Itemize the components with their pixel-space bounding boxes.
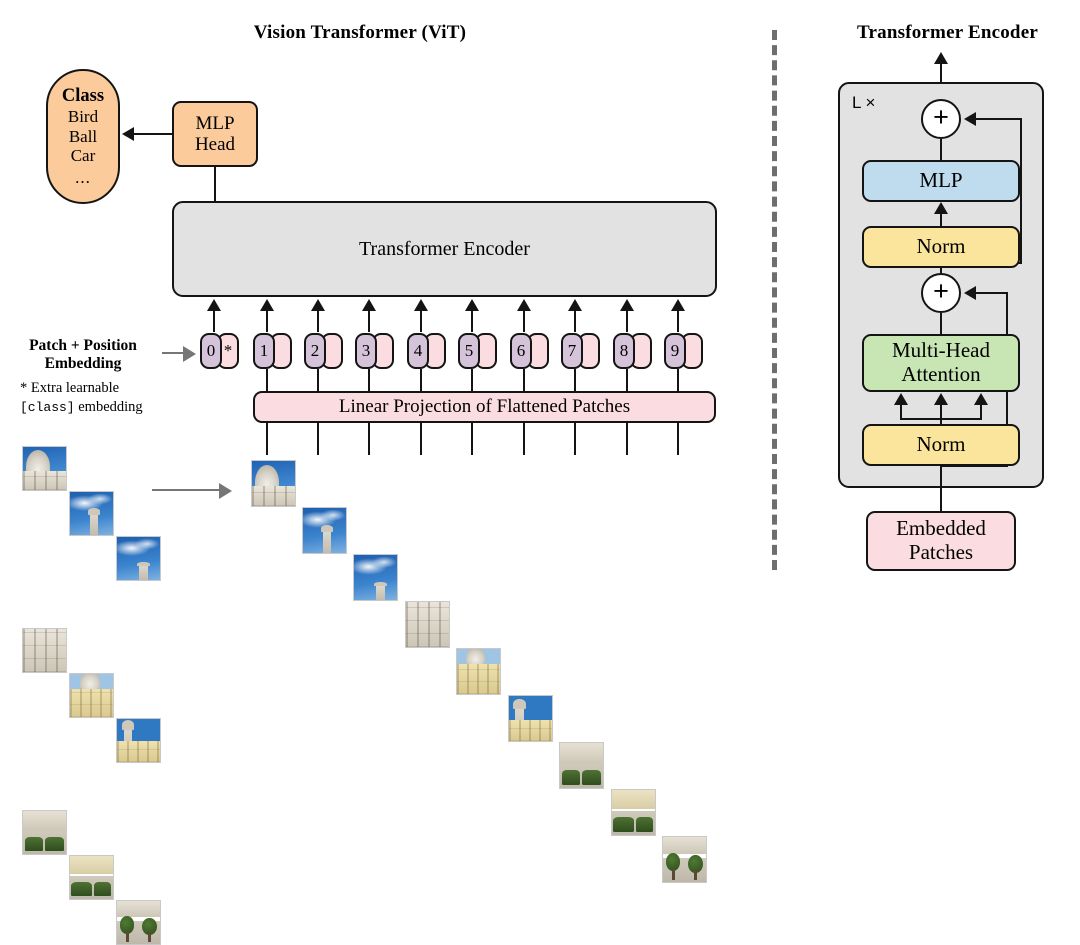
- mlp-to-add-line: [940, 139, 942, 161]
- embedding-label-arrow-line: [162, 352, 184, 354]
- token-4: 4: [407, 333, 446, 369]
- source-patch-r2c2: [69, 673, 114, 718]
- token-5: 5: [458, 333, 497, 369]
- embedded-patches-to-norm-line: [940, 466, 942, 512]
- token-2-position-embedding: 2: [304, 333, 326, 369]
- mlp-label: MLP: [919, 169, 962, 193]
- source-patch-r3c2: [69, 855, 114, 900]
- token-8-to-encoder-line: [626, 310, 628, 332]
- attention-label-line1: Multi-Head: [892, 339, 990, 363]
- mlp-head-to-class-arrowhead: [122, 127, 134, 141]
- patch-4-stem: [420, 423, 422, 455]
- source-image-grid: [22, 446, 162, 586]
- norm-box-lower: Norm: [862, 424, 1020, 466]
- token-9-to-encoder-arrowhead: [671, 299, 685, 311]
- right-panel-title: Transformer Encoder: [815, 22, 1080, 44]
- source-patch-r3c1: [22, 810, 67, 855]
- norm-box-upper: Norm: [862, 226, 1020, 268]
- token-3: 3: [355, 333, 394, 369]
- token-6: 6: [510, 333, 549, 369]
- token-1-to-encoder-arrowhead: [260, 299, 274, 311]
- token-8-position-embedding: 8: [613, 333, 635, 369]
- token-0: 0 *: [200, 333, 239, 369]
- patch-3-stem: [368, 423, 370, 455]
- norm-lower-label: Norm: [917, 433, 966, 457]
- token-5-position-embedding: 5: [458, 333, 480, 369]
- token-7-position-embedding: 7: [561, 333, 583, 369]
- residual-top-segment-top: [975, 118, 1022, 120]
- residual-add-top-symbol: +: [933, 104, 949, 131]
- residual-top-segment-right: [1020, 118, 1022, 264]
- patch-6-stem: [523, 423, 525, 455]
- patch-8-stem: [626, 423, 628, 455]
- extra-learnable-footnote: * Extra learnable [class] embedding: [20, 379, 190, 417]
- attention-to-add-line: [940, 313, 942, 335]
- residual-add-top: +: [921, 99, 961, 139]
- flat-patch-6: [508, 695, 553, 742]
- token-6-to-encoder-line: [523, 310, 525, 332]
- token-1: 1: [253, 333, 292, 369]
- token-6-stem: [523, 369, 525, 392]
- embedding-label-line1: Patch + Position: [8, 337, 158, 355]
- flat-patch-1: [251, 460, 296, 507]
- token-4-to-encoder-line: [420, 310, 422, 332]
- token-1-to-encoder-line: [266, 310, 268, 332]
- residual-bottom-segment-top: [975, 292, 1008, 294]
- mlp-head-to-class-line: [133, 133, 172, 135]
- class-item-ball: Ball: [69, 127, 97, 146]
- token-2-stem: [317, 369, 319, 392]
- token-4-to-encoder-arrowhead: [414, 299, 428, 311]
- class-output-box: Class Bird Ball Car ...: [46, 69, 120, 204]
- residual-top-arrowhead: [964, 112, 976, 126]
- transformer-encoder-box: Transformer Encoder: [172, 201, 717, 297]
- qkv-query-stem: [900, 404, 902, 420]
- token-3-position-embedding: 3: [355, 333, 377, 369]
- grid-to-strip-arrow-line: [152, 489, 220, 491]
- mlp-head-line1: MLP: [195, 113, 234, 134]
- token-2-to-encoder-line: [317, 310, 319, 332]
- transformer-encoder-label: Transformer Encoder: [359, 238, 530, 260]
- embedded-patches-box: Embedded Patches: [866, 511, 1016, 571]
- embedded-patches-line2: Patches: [909, 541, 973, 565]
- mlp-head-box: MLP Head: [172, 101, 258, 167]
- token-5-stem: [471, 369, 473, 392]
- token-7-to-encoder-arrowhead: [568, 299, 582, 311]
- embedding-label-line2: Embedding: [8, 355, 158, 373]
- flat-patch-3: [353, 554, 398, 601]
- footnote-line1: * Extra learnable: [20, 379, 190, 398]
- token-8-stem: [626, 369, 628, 392]
- qkv-value-stem: [980, 404, 982, 420]
- flat-patch-7: [559, 742, 604, 789]
- flat-patch-9: [662, 836, 707, 883]
- attention-label-line2: Attention: [901, 363, 980, 387]
- multi-head-attention-box: Multi-Head Attention: [862, 334, 1020, 392]
- norm-to-mlp-line: [940, 213, 942, 227]
- footnote-class-token: [class]: [20, 400, 75, 415]
- embedding-label-arrowhead: [183, 346, 196, 362]
- flat-patch-8: [611, 789, 656, 836]
- class-heading: Class: [62, 86, 104, 107]
- patch-9-stem: [677, 423, 679, 455]
- source-patch-r1c2: [69, 491, 114, 536]
- token-5-to-encoder-line: [471, 310, 473, 332]
- qkv-query-arrowhead: [894, 393, 908, 405]
- grid-to-strip-arrowhead: [219, 483, 232, 499]
- token-7: 7: [561, 333, 600, 369]
- qkv-value-arrowhead: [974, 393, 988, 405]
- norm-to-mlp-arrowhead: [934, 202, 948, 214]
- token-2: 2: [304, 333, 343, 369]
- token-7-to-encoder-line: [574, 310, 576, 332]
- token-9-to-encoder-line: [677, 310, 679, 332]
- token-0-to-encoder-arrowhead: [207, 299, 221, 311]
- token-9-stem: [677, 369, 679, 392]
- class-item-car: Car: [71, 146, 96, 165]
- source-patch-r3c3: [116, 900, 161, 945]
- mlp-head-to-encoder-line: [214, 167, 216, 202]
- panel-divider: [772, 30, 777, 570]
- token-9: 9: [664, 333, 703, 369]
- token-0-to-encoder-line: [213, 310, 215, 332]
- norm-upper-label: Norm: [917, 235, 966, 259]
- source-patch-r1c3: [116, 536, 161, 581]
- residual-add-bottom: +: [921, 273, 961, 313]
- token-3-stem: [368, 369, 370, 392]
- patch-5-stem: [471, 423, 473, 455]
- flat-patch-4: [405, 601, 450, 648]
- residual-add-bottom-symbol: +: [933, 278, 949, 305]
- source-patch-r2c1: [22, 628, 67, 673]
- token-0-position-embedding: 0: [200, 333, 222, 369]
- token-6-to-encoder-arrowhead: [517, 299, 531, 311]
- token-9-position-embedding: 9: [664, 333, 686, 369]
- flat-patch-2: [302, 507, 347, 554]
- token-8-to-encoder-arrowhead: [620, 299, 634, 311]
- qkv-key-arrowhead: [934, 393, 948, 405]
- token-3-to-encoder-arrowhead: [362, 299, 376, 311]
- patch-position-embedding-label: Patch + Position Embedding: [8, 337, 158, 374]
- token-2-to-encoder-arrowhead: [311, 299, 325, 311]
- repeat-count-label: L ×: [852, 93, 875, 113]
- token-1-stem: [266, 369, 268, 392]
- token-8: 8: [613, 333, 652, 369]
- token-4-stem: [420, 369, 422, 392]
- flat-patch-5: [456, 648, 501, 695]
- linear-projection-box: Linear Projection of Flattened Patches: [253, 391, 716, 423]
- patch-1-stem: [266, 423, 268, 455]
- encoder-output-arrowhead: [934, 52, 948, 64]
- embedded-patches-line1: Embedded: [896, 517, 986, 541]
- token-7-stem: [574, 369, 576, 392]
- patch-2-stem: [317, 423, 319, 455]
- token-6-position-embedding: 6: [510, 333, 532, 369]
- linear-projection-label: Linear Projection of Flattened Patches: [339, 396, 630, 417]
- token-4-position-embedding: 4: [407, 333, 429, 369]
- class-ellipsis: ...: [75, 168, 91, 187]
- mlp-box: MLP: [862, 160, 1020, 202]
- residual-bottom-arrowhead: [964, 286, 976, 300]
- class-item-bird: Bird: [68, 107, 98, 126]
- left-panel-title: Vision Transformer (ViT): [180, 22, 540, 44]
- source-patch-r1c1: [22, 446, 67, 491]
- mlp-head-line2: Head: [195, 134, 235, 155]
- token-1-position-embedding: 1: [253, 333, 275, 369]
- footnote-line2-tail: embedding: [75, 399, 143, 415]
- token-5-to-encoder-arrowhead: [465, 299, 479, 311]
- token-3-to-encoder-line: [368, 310, 370, 332]
- source-patch-r2c3: [116, 718, 161, 763]
- patch-7-stem: [574, 423, 576, 455]
